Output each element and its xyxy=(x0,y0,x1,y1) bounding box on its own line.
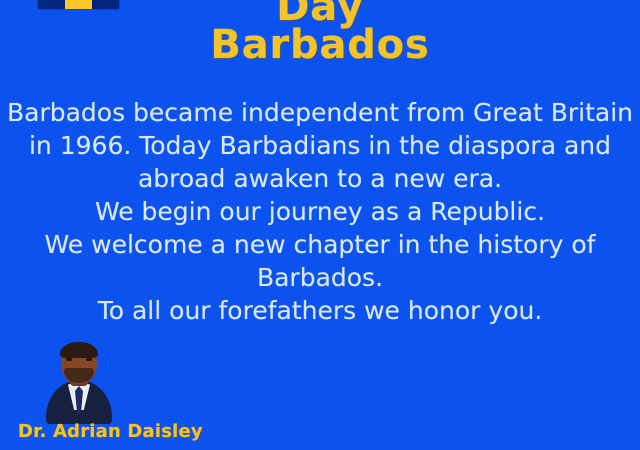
presenter-portrait xyxy=(42,340,116,422)
presenter-name: Dr. Adrian Daisley xyxy=(18,421,203,442)
body-line-1: Barbados became independent from Great B… xyxy=(0,96,640,129)
slide-body: Barbados became independent from Great B… xyxy=(0,96,640,327)
portrait-eye-left xyxy=(66,358,72,361)
body-line-2: in 1966. Today Barbadians in the diaspor… xyxy=(0,129,640,162)
body-line-4: We begin our journey as a Republic. xyxy=(0,195,640,228)
presenter-block: Dr. Adrian Daisley xyxy=(10,338,200,450)
portrait-hair xyxy=(60,342,98,358)
slide-title: Day Barbados xyxy=(0,0,640,65)
portrait-eye-right xyxy=(86,358,92,361)
body-line-5: We welcome a new chapter in the history … xyxy=(0,228,640,261)
slide-canvas: Day Barbados Barbados became independent… xyxy=(0,0,640,450)
body-line-3: abroad awaken to a new era. xyxy=(0,162,640,195)
title-line-barbados: Barbados xyxy=(0,26,640,64)
body-line-6: Barbados. xyxy=(0,261,640,294)
body-line-7: To all our forefathers we honor you. xyxy=(0,294,640,327)
